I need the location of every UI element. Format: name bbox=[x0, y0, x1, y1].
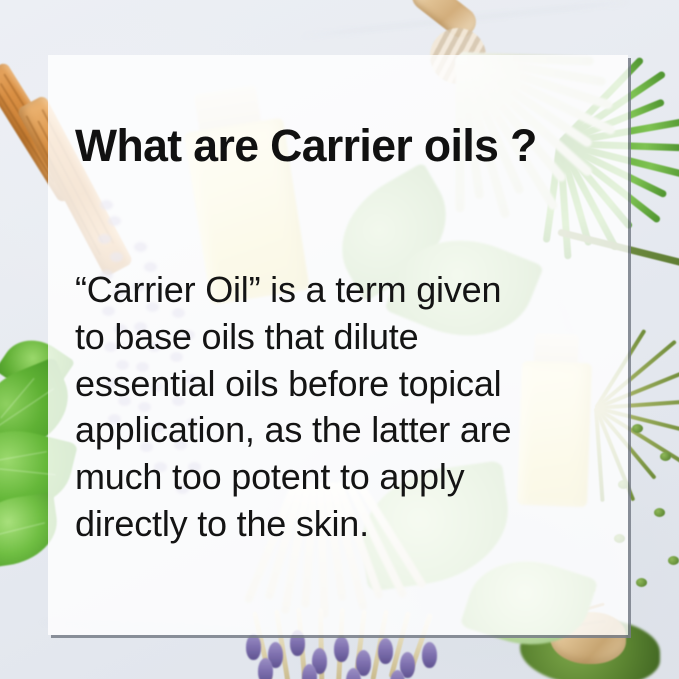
body-paragraph: “Carrier Oil” is a term given to base oi… bbox=[75, 267, 615, 548]
page-title: What are Carrier oils ? bbox=[75, 123, 615, 170]
infographic-canvas: What are Carrier oils ? “Carrier Oil” is… bbox=[0, 0, 679, 679]
